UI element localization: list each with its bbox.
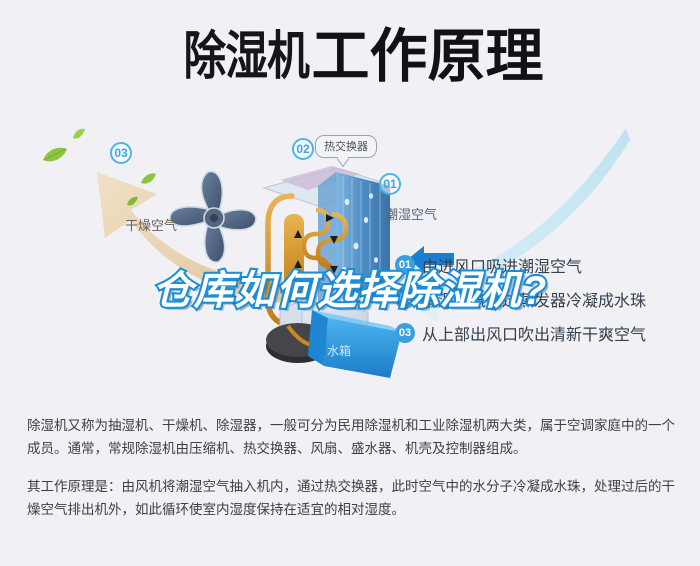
page-title-part2: 工作原理 (312, 28, 544, 86)
leaf-icon (72, 128, 86, 140)
leaf-icon (42, 146, 68, 164)
body-paragraph: 其工作原理是：由风机将潮湿空气抽入机内，通过热交换器，此时空气中的水分子冷凝成水… (27, 475, 675, 521)
heat-exchanger-callout: 热交换器 (315, 135, 377, 158)
page-title-part1: 除湿机 (184, 31, 309, 83)
leaf-icon (140, 172, 157, 185)
legend-item-label: 从上部出风口吹出清新干爽空气 (422, 321, 646, 345)
water-tank-label: 水箱 (327, 342, 351, 359)
page-title: 除湿机工作原理 (0, 28, 700, 86)
body-copy: 除湿机又称为抽湿机、干燥机、除湿器，一般可分为民用除湿机和工业除湿机两大类，属于… (27, 414, 675, 521)
leaf-icon (126, 196, 139, 207)
dry-air-label: 干燥空气 (125, 215, 177, 234)
diagram-badge-02: 02 (292, 138, 314, 160)
diagram-badge-01: 01 (379, 173, 401, 195)
body-paragraph: 除湿机又称为抽湿机、干燥机、除湿器，一般可分为民用除湿机和工业除湿机两大类，属于… (27, 414, 675, 460)
humid-air-label: 潮湿空气 (385, 204, 437, 223)
overlay-headline: 仓库如何选择除湿机? (0, 268, 700, 314)
legend-item-number: 03 (395, 323, 415, 343)
diagram-badge-03: 03 (110, 142, 132, 164)
legend-item: 03 从上部出风口吹出清新干爽空气 (395, 316, 695, 350)
infographic-page: 除湿机工作原理 (0, 0, 700, 566)
